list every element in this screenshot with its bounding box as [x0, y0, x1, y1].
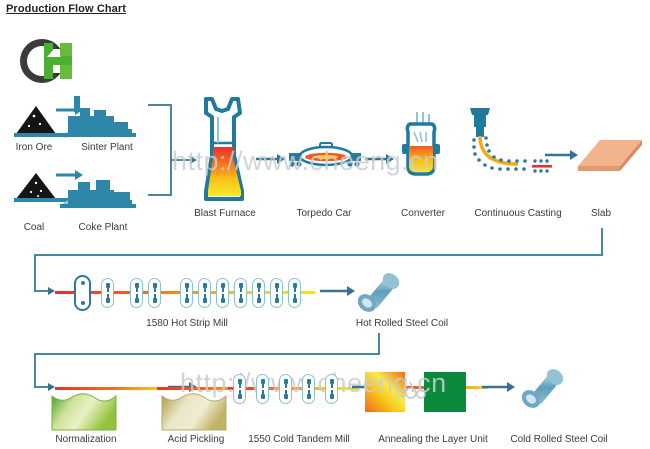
- roll-stand[interactable]: [234, 278, 247, 308]
- arrow-mill-to-hot-coil-icon: [320, 285, 356, 297]
- torpedo-car-icon: [289, 143, 363, 173]
- bracket-spine: [170, 104, 172, 196]
- label-cold-rolled-coil: Cold Rolled Steel Coil: [497, 434, 621, 445]
- arrow-furnace-to-torpedo-icon: [256, 153, 286, 165]
- annealing-furnace-icon: [365, 372, 407, 414]
- label-annealing-unit: Annealing the Layer Unit: [366, 434, 500, 445]
- logo-chevron-icon: [47, 49, 61, 57]
- label-iron-ore: Iron Ore: [8, 142, 60, 153]
- label-slab: Slab: [576, 208, 626, 219]
- label-converter: Converter: [388, 208, 458, 219]
- company-logo: [20, 37, 74, 87]
- return-line-1-down: [601, 228, 603, 256]
- cold-tandem-band: [228, 387, 358, 390]
- roll-stand[interactable]: [233, 374, 246, 404]
- label-coke-plant: Coke Plant: [62, 222, 144, 233]
- roll-stand[interactable]: [198, 278, 211, 308]
- label-cold-tandem-mill: 1550 Cold Tandem Mill: [238, 434, 360, 445]
- roll-stand[interactable]: [130, 278, 143, 308]
- label-hot-rolled-coil: Hot Rolled Steel Coil: [342, 318, 462, 329]
- return-line-1-left-down: [34, 254, 36, 292]
- label-normalization: Normalization: [44, 434, 128, 445]
- hot-rolled-coil-icon: [353, 272, 401, 312]
- arrow-torpedo-to-converter-icon: [365, 153, 395, 165]
- blast-furnace-icon: [196, 99, 254, 203]
- label-torpedo-car: Torpedo Car: [283, 208, 365, 219]
- label-sinter-plant: Sinter Plant: [66, 142, 148, 153]
- coke-plant-icon: [60, 168, 142, 210]
- label-coal: Coal: [8, 222, 60, 233]
- casting-roller-table-icon: [531, 158, 557, 178]
- label-continuous-casting: Continuous Casting: [458, 208, 578, 219]
- flow-chart-canvas: Production Flow Chart http://www.cheeng.…: [0, 0, 650, 449]
- label-blast-furnace: Blast Furnace: [182, 208, 268, 219]
- label-acid-pickling: Acid Pickling: [156, 434, 236, 445]
- return-line-1-across: [34, 254, 603, 256]
- label-hot-strip-mill: 1580 Hot Strip Mill: [122, 318, 252, 329]
- roll-stand[interactable]: [216, 278, 229, 308]
- roll-stand[interactable]: [256, 374, 269, 404]
- roll-stand[interactable]: [180, 278, 193, 308]
- return-line-2-across: [34, 353, 380, 355]
- annealing-cooling-icon: [424, 372, 468, 414]
- arrow-annealing-to-cold-coil-icon: [482, 381, 516, 393]
- roll-stand[interactable]: [270, 278, 283, 308]
- roll-stand[interactable]: [279, 374, 292, 404]
- cold-rolled-coil-icon: [517, 368, 565, 408]
- roll-stand[interactable]: [148, 278, 161, 308]
- roll-stand[interactable]: [252, 278, 265, 308]
- return-line-2-down: [378, 333, 380, 355]
- roll-stand[interactable]: [325, 374, 338, 404]
- return-line-2-left-down: [34, 353, 36, 388]
- normalization-icon: [50, 390, 120, 434]
- arrow-to-slab-icon: [545, 149, 579, 161]
- annealing-coil-transfer-icon: [404, 382, 428, 402]
- row2-entry-arrowhead-icon: [48, 287, 55, 295]
- converter-icon: [396, 112, 448, 188]
- roll-stand[interactable]: [288, 278, 301, 308]
- bracket-out: [170, 159, 192, 161]
- roll-stand[interactable]: [101, 278, 114, 308]
- page-title: Production Flow Chart: [6, 3, 126, 15]
- logo-bar-mid: [44, 56, 72, 65]
- bracket-top-arm: [148, 104, 172, 106]
- acid-pickling-icon: [160, 390, 230, 434]
- roll-stand[interactable]: [302, 374, 315, 404]
- sinter-plant-icon: [60, 96, 142, 140]
- bracket-bottom-arm: [148, 194, 172, 196]
- roll-stand[interactable]: [74, 275, 91, 311]
- slab-icon: [578, 138, 644, 180]
